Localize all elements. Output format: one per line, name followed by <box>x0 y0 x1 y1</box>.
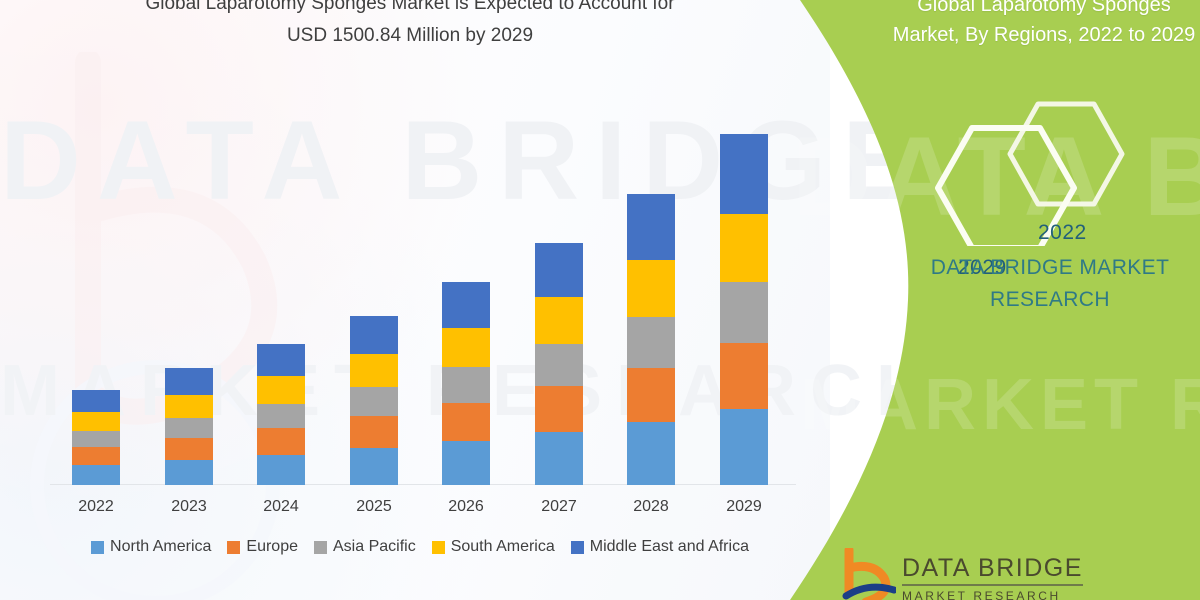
bar-segment[interactable] <box>257 344 305 376</box>
chart-legend: North AmericaEuropeAsia PacificSouth Ame… <box>40 538 800 556</box>
legend-swatch-icon <box>314 541 327 554</box>
bar-segment[interactable] <box>350 354 398 387</box>
bar-segment[interactable] <box>350 416 398 448</box>
bar-column-2022[interactable] <box>72 390 120 485</box>
bar-column-2028[interactable] <box>627 194 675 485</box>
bar-column-2025[interactable] <box>350 316 398 485</box>
bar-segment[interactable] <box>165 438 213 460</box>
bar-segment[interactable] <box>442 282 490 328</box>
x-tick-2023: 2023 <box>144 498 234 516</box>
bar-segment[interactable] <box>720 343 768 409</box>
legend-swatch-icon <box>432 541 445 554</box>
legend-item[interactable]: North America <box>91 538 211 556</box>
legend-swatch-icon <box>91 541 104 554</box>
legend-label: Middle East and Africa <box>590 538 749 556</box>
bar-segment[interactable] <box>442 403 490 441</box>
logo-name: DATA BRIDGE <box>902 554 1083 586</box>
bar-segment[interactable] <box>535 344 583 386</box>
bar-segment[interactable] <box>720 409 768 485</box>
x-tick-2026: 2026 <box>421 498 511 516</box>
x-tick-2024: 2024 <box>236 498 326 516</box>
bar-segment[interactable] <box>720 214 768 282</box>
bar-segment[interactable] <box>627 317 675 368</box>
hexagon-label-2022: 2022 <box>1038 221 1087 245</box>
x-tick-2027: 2027 <box>514 498 604 516</box>
legend-label: Asia Pacific <box>333 538 416 556</box>
bar-segment[interactable] <box>72 447 120 465</box>
bar-segment[interactable] <box>627 194 675 260</box>
chart-title-line-1: Global Laparotomy Sponges Market is Expe… <box>60 0 760 20</box>
logo-tagline: MARKET RESEARCH <box>902 589 1083 600</box>
infographic-canvas: DATA BRIDGE MARKET RESEARCH DATA BRIDGE … <box>0 0 1200 600</box>
legend-item[interactable]: Middle East and Africa <box>571 538 749 556</box>
bar-segment[interactable] <box>257 428 305 455</box>
stacked-bar-plot-area <box>50 110 790 485</box>
legend-item[interactable]: South America <box>432 538 555 556</box>
x-tick-2028: 2028 <box>606 498 696 516</box>
data-bridge-logo: DATA BRIDGE MARKET RESEARCH <box>840 548 1170 600</box>
legend-label: Europe <box>246 538 298 556</box>
bar-segment[interactable] <box>165 460 213 485</box>
bar-segment[interactable] <box>535 297 583 344</box>
bar-segment[interactable] <box>257 376 305 404</box>
bar-segment[interactable] <box>350 387 398 416</box>
panel-brand-line-1: DATA BRIDGE MARKET <box>900 252 1200 284</box>
logo-wordmark: DATA BRIDGE MARKET RESEARCH <box>902 554 1083 600</box>
bar-segment[interactable] <box>535 243 583 297</box>
x-tick-2022: 2022 <box>51 498 141 516</box>
bar-segment[interactable] <box>72 412 120 431</box>
bar-column-2027[interactable] <box>535 243 583 485</box>
legend-swatch-icon <box>571 541 584 554</box>
bar-segment[interactable] <box>442 441 490 485</box>
bar-segment[interactable] <box>720 134 768 214</box>
panel-brand-line-2: RESEARCH <box>900 284 1200 316</box>
bar-segment[interactable] <box>72 390 120 412</box>
bar-segment[interactable] <box>627 368 675 422</box>
legend-label: South America <box>451 538 555 556</box>
bar-segment[interactable] <box>350 448 398 485</box>
bar-segment[interactable] <box>165 368 213 395</box>
legend-label: North America <box>110 538 211 556</box>
bar-segment[interactable] <box>350 316 398 354</box>
bar-segment[interactable] <box>165 418 213 438</box>
bar-segment[interactable] <box>442 367 490 403</box>
bar-segment[interactable] <box>535 386 583 432</box>
bar-segment[interactable] <box>165 395 213 418</box>
panel-title: Global Laparotomy Sponges Market, By Reg… <box>888 0 1200 50</box>
chart-title-line-2: USD 1500.84 Million by 2029 <box>60 20 760 52</box>
bar-segment[interactable] <box>720 282 768 343</box>
bar-column-2023[interactable] <box>165 368 213 485</box>
bar-segment[interactable] <box>72 431 120 447</box>
legend-item[interactable]: Asia Pacific <box>314 538 416 556</box>
x-tick-2029: 2029 <box>699 498 789 516</box>
legend-swatch-icon <box>227 541 240 554</box>
x-tick-2025: 2025 <box>329 498 419 516</box>
bar-column-2024[interactable] <box>257 344 305 485</box>
panel-title-line-2: Market, By Regions, 2022 to 2029 <box>888 20 1200 50</box>
bar-segment[interactable] <box>535 432 583 485</box>
bar-segment[interactable] <box>627 260 675 317</box>
bar-column-2029[interactable] <box>720 134 768 485</box>
bar-column-2026[interactable] <box>442 282 490 485</box>
bar-segment[interactable] <box>257 404 305 428</box>
hexagon-2022-shape <box>1010 104 1122 204</box>
hexagon-group: 2022 2029 <box>920 96 1160 246</box>
legend-item[interactable]: Europe <box>227 538 298 556</box>
panel-title-line-1: Global Laparotomy Sponges <box>888 0 1200 20</box>
chart-title: Global Laparotomy Sponges Market is Expe… <box>60 0 760 52</box>
bar-segment[interactable] <box>257 455 305 485</box>
bar-segment[interactable] <box>442 328 490 367</box>
bar-segment[interactable] <box>627 422 675 485</box>
logo-mark-icon <box>840 548 896 600</box>
bar-segment[interactable] <box>72 465 120 485</box>
